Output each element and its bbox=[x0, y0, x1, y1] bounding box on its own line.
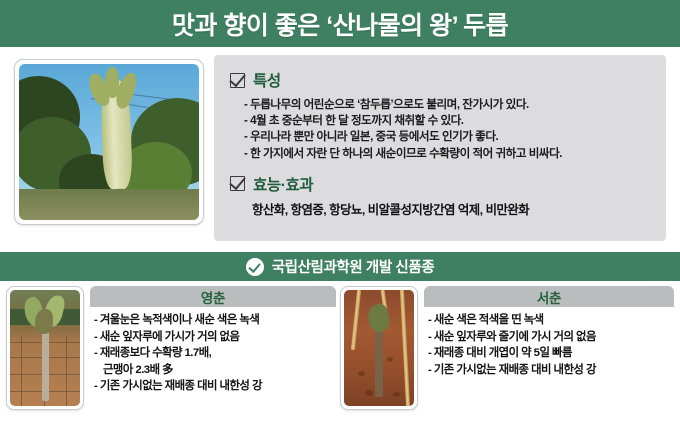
cultivar-stem bbox=[375, 329, 383, 396]
cultivar-feature: - 겨울눈은 녹적색이나 새순 색은 녹색 bbox=[94, 312, 336, 329]
effect-heading: 효능·효과 bbox=[253, 173, 313, 195]
page-title-bar: 맛과 향이 좋은 ‘산나물의 왕’ 두릅 bbox=[0, 0, 680, 47]
checkbox-icon bbox=[230, 176, 245, 191]
check-circle-icon bbox=[246, 258, 264, 276]
cultivar-feature-list-seochun: - 새순 색은 적색을 띤 녹색 - 새순 잎자루와 줄기에 가시 거의 없음 … bbox=[424, 307, 674, 378]
upper-section: 특성 - 두릅나무의 어린순으로 ‘참두릅’으로도 불리며, 잔가시가 있다. … bbox=[0, 47, 680, 252]
cultivar-body-seochun: 서춘 - 새순 색은 적색을 띤 녹색 - 새순 잎자루와 줄기에 가시 거의 … bbox=[424, 286, 674, 378]
cultivar-label-seochun: 서춘 bbox=[424, 286, 674, 307]
feature-block: 특성 - 두릅나무의 어린순으로 ‘참두릅’으로도 불리며, 잔가시가 있다. … bbox=[230, 69, 652, 162]
cultivar-feature: - 기존 가시없는 재배종 대비 내한성 강 bbox=[428, 362, 674, 379]
main-photo-image bbox=[19, 64, 199, 220]
photo-ground bbox=[19, 189, 199, 220]
cultivar-feature-continuation: 근맹아 2.3배 多 bbox=[94, 362, 336, 379]
cultivar-feature: - 새순 색은 적색을 띤 녹색 bbox=[428, 312, 674, 329]
feature-bullet: - 우리나라 뿐만 아니라 일본, 중국 등에서도 인기가 좋다. bbox=[244, 129, 652, 145]
infographic-page: 맛과 향이 좋은 ‘산나물의 왕’ 두릅 bbox=[0, 0, 680, 422]
main-photo bbox=[14, 59, 204, 225]
shoot-frond bbox=[35, 309, 53, 335]
feature-bullet: - 4월 초 중순부터 한 달 정도까지 채취할 수 있다. bbox=[244, 113, 652, 129]
cultivar-photo-seochun bbox=[340, 286, 418, 410]
cultivar-feature: - 재래종보다 수확량 1.7배, bbox=[94, 345, 336, 362]
feature-bullet-list: - 두릅나무의 어린순으로 ‘참두릅’으로도 불리며, 잔가시가 있다. - 4… bbox=[230, 97, 652, 162]
effect-text: 항산화, 항염증, 항당뇨, 비알콜성지방간염 억제, 비만완화 bbox=[230, 201, 652, 219]
cultivar-photo-image bbox=[344, 290, 414, 406]
effect-heading-row: 효능·효과 bbox=[230, 173, 652, 195]
cultivar-label-yeongchun: 영춘 bbox=[90, 286, 336, 307]
section-spacer bbox=[230, 164, 652, 173]
feature-bullet: - 두릅나무의 어린순으로 ‘참두릅’으로도 불리며, 잔가시가 있다. bbox=[244, 97, 652, 113]
cultivar-feature: - 새순 잎자루에 가시가 거의 없음 bbox=[94, 329, 336, 346]
ribbon-text: 국립산림과학원 개발 신품종 bbox=[272, 256, 435, 277]
feature-heading-row: 특성 bbox=[230, 69, 652, 91]
cultivar-feature: - 새순 잎자루와 줄기에 가시 거의 없음 bbox=[428, 329, 674, 346]
cultivar-body-yeongchun: 영춘 - 겨울눈은 녹적색이나 새순 색은 녹색 - 새순 잎자루에 가시가 거… bbox=[90, 286, 336, 395]
cultivar-stem bbox=[42, 325, 49, 402]
cultivar-feature: - 재래종 대비 개엽이 약 5일 빠름 bbox=[428, 345, 674, 362]
cultivar-photo-yeongchun bbox=[6, 286, 84, 410]
feature-heading: 특성 bbox=[253, 69, 281, 91]
cultivar-card-yeongchun: 영춘 - 겨울눈은 녹적색이나 새순 색은 녹색 - 새순 잎자루에 가시가 거… bbox=[6, 286, 336, 412]
effect-block: 효능·효과 항산화, 항염증, 항당뇨, 비알콜성지방간염 억제, 비만완화 bbox=[230, 173, 652, 219]
checkbox-icon bbox=[230, 73, 245, 88]
page-title: 맛과 향이 좋은 ‘산나물의 왕’ 두릅 bbox=[172, 6, 508, 42]
ribbon-banner: 국립산림과학원 개발 신품종 bbox=[0, 252, 680, 281]
info-panel: 특성 - 두릅나무의 어린순으로 ‘참두릅’으로도 불리며, 잔가시가 있다. … bbox=[214, 55, 666, 241]
feature-bullet: - 한 가지에서 자란 단 하나의 새순이므로 수확량이 적어 귀하고 비싸다. bbox=[244, 146, 652, 162]
cultivar-feature: - 기존 가시없는 재배종 대비 내한성 강 bbox=[94, 378, 336, 395]
cultivar-photo-image bbox=[10, 290, 80, 406]
cultivar-card-seochun: 서춘 - 새순 색은 적색을 띤 녹색 - 새순 잎자루와 줄기에 가시 거의 … bbox=[340, 286, 674, 412]
cultivar-feature-list-yeongchun: - 겨울눈은 녹적색이나 새순 색은 녹색 - 새순 잎자루에 가시가 거의 없… bbox=[90, 307, 336, 395]
